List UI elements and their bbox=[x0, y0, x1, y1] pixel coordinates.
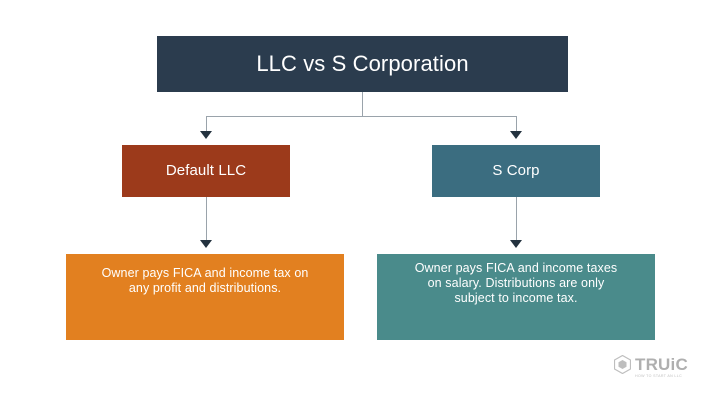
node-s-corp-detail-text: Owner pays FICA and income taxes on sala… bbox=[409, 261, 624, 305]
arrowhead-to-default-llc bbox=[200, 131, 212, 139]
arrowhead-to-s-corp-detail bbox=[510, 240, 522, 248]
cube-logo-icon bbox=[614, 355, 631, 379]
node-title-label: LLC vs S Corporation bbox=[256, 51, 468, 77]
node-default-llc-label: Default LLC bbox=[166, 162, 246, 180]
connector-title-stem bbox=[362, 92, 363, 117]
brand-logo: TRUiC HOW TO START AN LLC bbox=[614, 352, 710, 382]
connector-s-corp-to-detail bbox=[516, 197, 517, 242]
brand-wordmark: TRUiC bbox=[635, 356, 688, 373]
node-default-llc-detail: Owner pays FICA and income tax on any pr… bbox=[66, 254, 344, 340]
brand-wordblock: TRUiC HOW TO START AN LLC bbox=[635, 356, 688, 379]
node-default-llc: Default LLC bbox=[122, 145, 290, 197]
arrowhead-to-llc-detail bbox=[200, 240, 212, 248]
node-s-corp-label: S Corp bbox=[492, 162, 539, 180]
node-title: LLC vs S Corporation bbox=[157, 36, 568, 92]
arrowhead-to-s-corp bbox=[510, 131, 522, 139]
brand-tagline: HOW TO START AN LLC bbox=[635, 375, 688, 379]
connector-default-llc-to-detail bbox=[206, 197, 207, 242]
node-s-corp-detail: Owner pays FICA and income taxes on sala… bbox=[377, 254, 655, 340]
diagram-canvas: LLC vs S Corporation Default LLC S Corp … bbox=[0, 0, 720, 404]
connector-split-bar bbox=[206, 116, 517, 117]
node-s-corp: S Corp bbox=[432, 145, 600, 197]
node-default-llc-detail-text: Owner pays FICA and income tax on any pr… bbox=[98, 266, 313, 296]
